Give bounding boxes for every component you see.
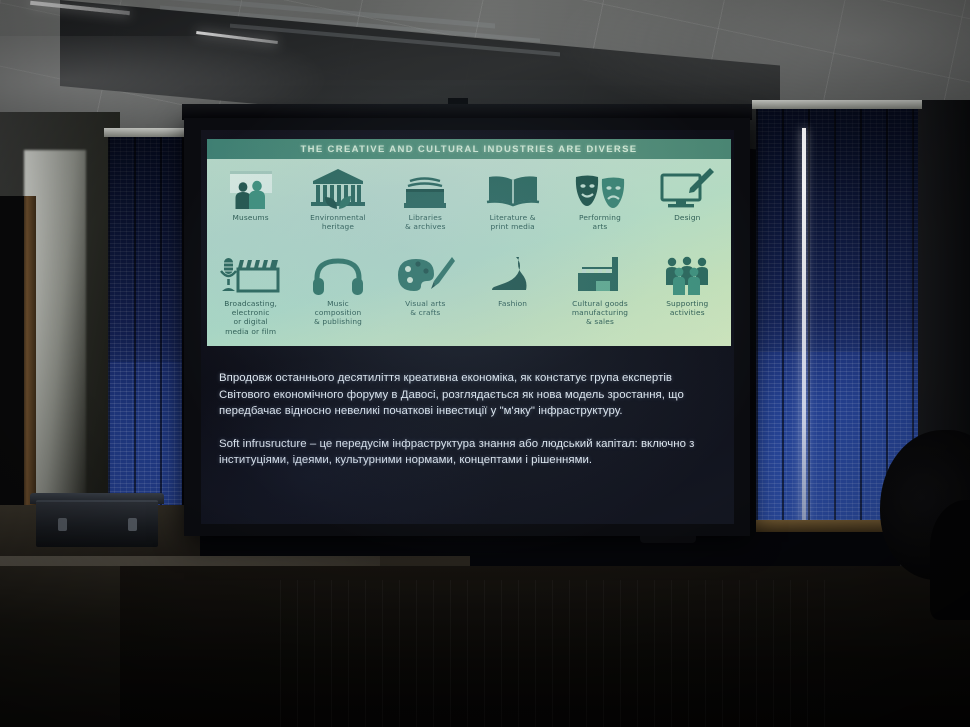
window-light-gap [802, 128, 806, 524]
window-blinds-left [108, 132, 182, 524]
blind-rail-left [104, 128, 186, 137]
industry-cell-visual-arts: Visual arts& crafts [382, 251, 469, 336]
case-latch [58, 518, 67, 531]
equipment-case [36, 500, 158, 547]
industry-label: Broadcasting,electronicor digitalmedia o… [224, 299, 277, 336]
industry-cell-music: Musiccomposition& publishing [294, 251, 381, 336]
industry-label: Literature &print media [490, 213, 536, 231]
palette-brush-icon [394, 251, 456, 295]
open-book-icon [485, 165, 541, 209]
classical-building-leaves-icon [307, 165, 369, 209]
people-group-icon [658, 251, 716, 295]
slide-body-text: Впродовж останнього десятиліття креативн… [219, 370, 719, 469]
industry-cell-museums: Museums [207, 165, 294, 231]
industry-label: Design [674, 213, 700, 222]
counter-top-surface [0, 556, 380, 566]
industry-label: Fashion [498, 299, 527, 308]
high-heel-shoe-icon [490, 251, 536, 295]
podium-panel-texture [280, 580, 840, 727]
blind-rail-right [752, 100, 922, 109]
industry-cell-performing-arts: Performingarts [556, 165, 643, 231]
industry-cell-environmental-heritage: Environmentalheritage [294, 165, 381, 231]
industry-label: Libraries& archives [405, 213, 446, 231]
conference-room-photo: THE CREATIVE AND CULTURAL INDUSTRIES ARE… [0, 0, 970, 727]
projection-screen-foot [640, 536, 696, 543]
industry-cell-cultural-goods: Cultural goodsmanufacturing& sales [556, 251, 643, 336]
industry-cell-fashion: Fashion [469, 251, 556, 336]
industry-label: Musiccomposition& publishing [314, 299, 362, 327]
industry-cell-literature: Literature &print media [469, 165, 556, 231]
infographic-title: THE CREATIVE AND CULTURAL INDUSTRIES ARE… [301, 144, 638, 155]
industry-label: Supportingactivities [666, 299, 708, 317]
industry-label: Visual arts& crafts [405, 299, 445, 317]
creative-industries-infographic: THE CREATIVE AND CULTURAL INDUSTRIES ARE… [207, 139, 731, 346]
file-drawer-icon [400, 165, 450, 209]
projected-slide: THE CREATIVE AND CULTURAL INDUSTRIES ARE… [201, 130, 734, 524]
microphone-clapperboard-icon [218, 251, 284, 295]
industry-cell-broadcasting: Broadcasting,electronicor digitalmedia o… [207, 251, 294, 336]
infographic-row-1: Museums [207, 165, 731, 231]
blind-shadow [756, 104, 918, 352]
industry-cell-design: Design [644, 165, 731, 231]
slide-paragraph-1: Впродовж останнього десятиліття креативн… [219, 370, 719, 420]
infographic-title-banner: THE CREATIVE AND CULTURAL INDUSTRIES ARE… [207, 139, 731, 159]
monitor-stylus-icon [658, 165, 716, 209]
industry-cell-libraries: Libraries& archives [382, 165, 469, 231]
theatre-masks-icon [572, 165, 628, 209]
industry-label: Performingarts [579, 213, 621, 231]
case-latch [128, 518, 137, 531]
slide-paragraph-2: Soft infrusructure – це передусім інфрас… [219, 436, 719, 469]
doorway-opening [0, 196, 24, 526]
blind-shadow [108, 132, 182, 362]
industry-label: Cultural goodsmanufacturing& sales [572, 299, 628, 327]
factory-icon [572, 251, 628, 295]
industry-cell-supporting-activities: Supportingactivities [644, 251, 731, 336]
industry-label: Environmentalheritage [310, 213, 366, 231]
museum-figures-icon [222, 165, 280, 209]
headphones-icon [311, 251, 365, 295]
infographic-row-2: Broadcasting,electronicor digitalmedia o… [207, 251, 731, 336]
industry-label: Museums [233, 213, 269, 222]
